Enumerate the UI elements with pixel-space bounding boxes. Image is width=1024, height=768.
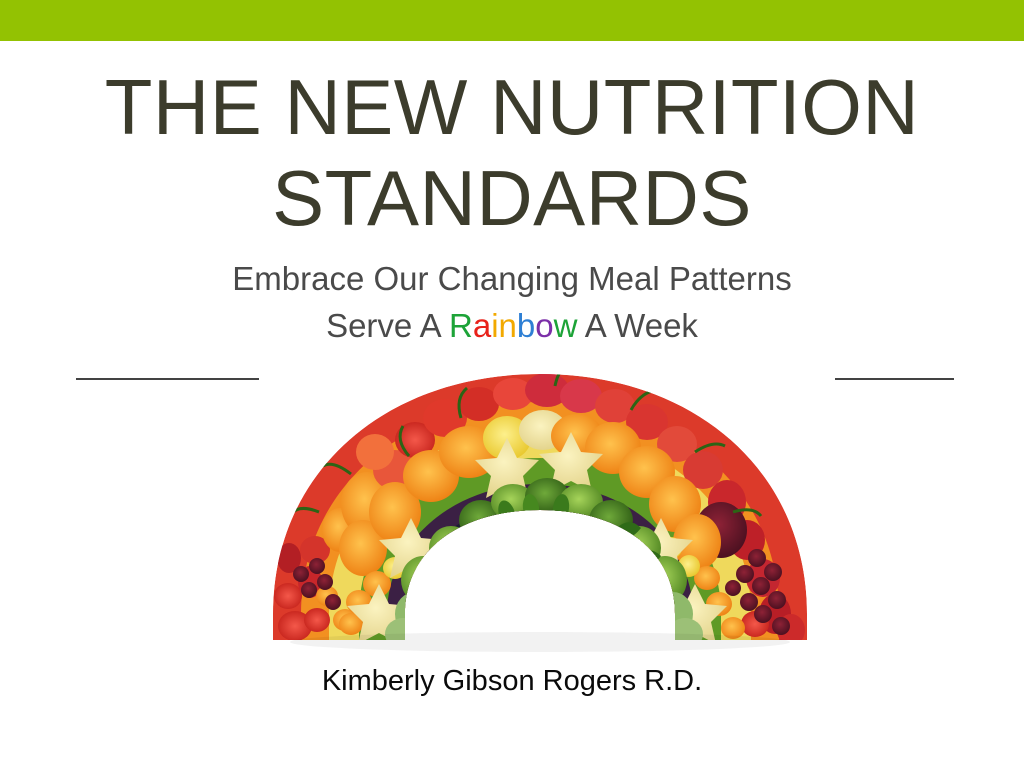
arch-color-bands [273, 360, 807, 650]
subtitle-prefix: Serve A [326, 307, 449, 344]
rainbow-letter-4: b [517, 307, 535, 344]
presentation-slide: THE NEW NUTRITION STANDARDS Embrace Our … [0, 0, 1024, 768]
presenter-credit: Kimberly Gibson Rogers R.D. [0, 663, 1024, 699]
rainbow-letter-2: i [491, 307, 498, 344]
top-green-accent-bar [0, 0, 1024, 41]
artwork-shadow [290, 632, 790, 652]
rainbow-arch-graphic [255, 352, 825, 657]
subtitle-line-2: Serve A Rainbow A Week [0, 302, 1024, 349]
subtitle-suffix: A Week [577, 307, 697, 344]
decorative-rule-right [835, 378, 954, 380]
rainbow-word: Rainbow [449, 307, 577, 344]
rainbow-letter-6: w [554, 307, 578, 344]
title-line-1: THE NEW NUTRITION [0, 62, 1024, 153]
purple-produce [422, 520, 670, 628]
rainbow-letter-3: n [499, 307, 517, 344]
decorative-rule-left [76, 378, 259, 380]
page-title: THE NEW NUTRITION STANDARDS [0, 62, 1024, 244]
title-line-2: STANDARDS [0, 153, 1024, 244]
subtitle: Embrace Our Changing Meal Patterns Serve… [0, 255, 1024, 349]
fruit-vegetable-rainbow-image [255, 352, 825, 657]
subtitle-line-1: Embrace Our Changing Meal Patterns [0, 255, 1024, 302]
rainbow-letter-0: R [449, 307, 473, 344]
rainbow-letter-5: o [535, 307, 553, 344]
rainbow-letter-1: a [473, 307, 491, 344]
